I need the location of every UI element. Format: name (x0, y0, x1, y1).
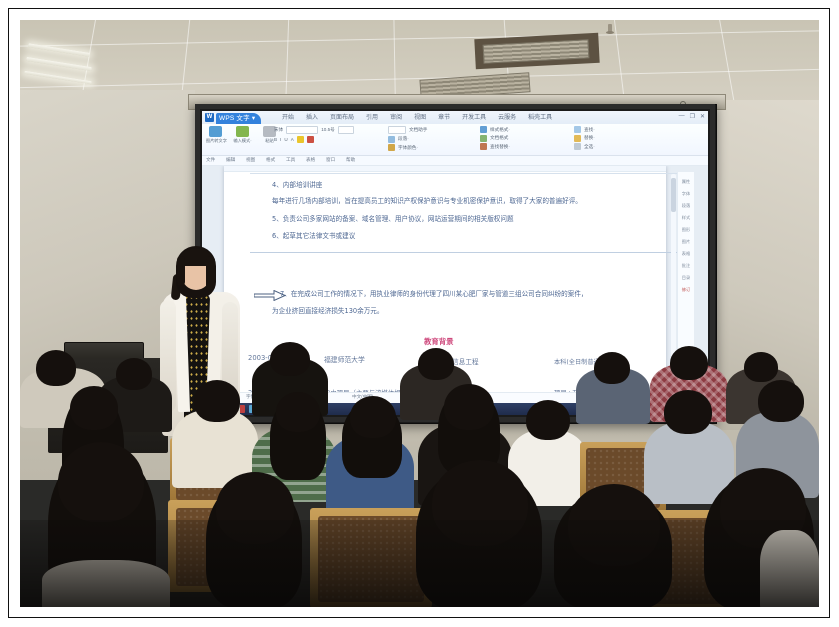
tab-reference[interactable]: 引用 (366, 113, 378, 124)
qat-table[interactable]: 表格 (306, 157, 315, 163)
document-heading-education: 教育背景 (424, 336, 454, 347)
photo-frame: Kanabox W WPS 文字 ▾ 开始 插入 页面布局 引用 审阅 视图 章… (0, 0, 839, 627)
ribbon-button-input-mode[interactable]: 输入模式· (232, 126, 253, 144)
qat-tools[interactable]: 工具 (286, 157, 295, 163)
wps-ribbon: 图片转文字 输入模式· 粘贴 宋体 (202, 124, 708, 156)
bold-button[interactable]: B (274, 137, 277, 142)
find-label: 查找· (584, 127, 595, 133)
document-ruler (224, 166, 666, 172)
audience-head (116, 358, 152, 390)
qat-format[interactable]: 格式 (266, 157, 275, 163)
replace-icon[interactable] (574, 135, 581, 142)
tab-section[interactable]: 章节 (438, 113, 450, 124)
pane-item-properties[interactable]: 属性 (678, 179, 694, 184)
audience-head (350, 396, 396, 438)
font-color-icon[interactable] (388, 144, 395, 151)
audience-head (594, 352, 630, 384)
audience-head (36, 350, 76, 386)
italic-button[interactable]: I (280, 137, 281, 142)
ribbon-button-image-to-text[interactable]: 图片转文字 (205, 126, 226, 144)
pane-item-outline[interactable]: 目录 (678, 275, 694, 280)
style-format-icon[interactable] (480, 126, 487, 133)
select-all-icon[interactable] (574, 143, 581, 150)
tab-dev-tools[interactable]: 开发工具 (462, 113, 486, 124)
font-color-swatch[interactable] (307, 136, 314, 143)
tab-view[interactable]: 视图 (414, 113, 426, 124)
style-format-label: 样式格式· (490, 127, 510, 133)
foreground-shadow (20, 520, 819, 607)
underline-button[interactable]: U (284, 137, 287, 142)
document-line: 5、负责公司多家网站的备案、域名管理、用户协议，网站运营期间的相关版权问题 (272, 213, 514, 223)
audience-head (744, 352, 778, 382)
ribbon-styles-group: 样式格式· 文档格式 查找替换· (480, 126, 510, 150)
select-all-label: 全选· (584, 144, 595, 150)
tab-page-layout[interactable]: 页面布局 (330, 113, 354, 124)
document-line: 7、在完成公司工作的情况下，用执业律师的身份代理了四川某心肥厂家与管道三组公司合… (280, 288, 588, 298)
tab-cloud-service[interactable]: 云服务 (498, 113, 516, 124)
close-icon[interactable]: ✕ (700, 113, 705, 120)
ribbon-font-group: 宋体 10.5号 B I U A (274, 126, 354, 143)
presenter-hair-side-left (177, 256, 185, 286)
paragraph-icon[interactable] (388, 136, 395, 143)
doc-assistant-box[interactable] (388, 126, 406, 134)
font-name-box[interactable] (286, 126, 318, 134)
window-controls[interactable]: — ❐ ✕ (679, 113, 705, 120)
maximize-icon[interactable]: ❐ (690, 113, 695, 120)
qat-view[interactable]: 视图 (246, 157, 255, 163)
wps-title-bar: W WPS 文字 ▾ 开始 插入 页面布局 引用 审阅 视图 章节 开发工具 云… (202, 111, 708, 124)
photograph: Kanabox W WPS 文字 ▾ 开始 插入 页面布局 引用 审阅 视图 章… (20, 20, 819, 607)
replace-label: 替换· (584, 135, 595, 141)
paragraph-label: 段落· (398, 136, 409, 142)
tab-review[interactable]: 审阅 (390, 113, 402, 124)
audience-head (664, 390, 712, 434)
font-size-value[interactable]: 10.5号 (321, 127, 335, 133)
doc-format-icon[interactable] (480, 135, 487, 142)
pane-item-revisions[interactable]: 修订 (678, 287, 694, 292)
ribbon-paragraph-group: 文档助手 段落· 字体颜色· (388, 126, 427, 151)
tab-start[interactable]: 开始 (282, 113, 294, 124)
wps-quick-access-toolbar: 文件 编辑 视图 格式 工具 表格 窗口 帮助 (202, 156, 708, 166)
audience-head (70, 386, 118, 430)
font-color-label: 字体颜色· (398, 145, 418, 151)
doc-assistant-label: 文档助手 (409, 127, 427, 133)
font-size-box[interactable] (338, 126, 354, 134)
audience-head (526, 400, 570, 440)
doc-format-label: 文档格式 (490, 135, 508, 141)
highlight-color-swatch[interactable] (297, 136, 304, 143)
pane-item-tables[interactable]: 表格 (678, 251, 694, 256)
tab-extra-tools[interactable]: 稻壳工具 (528, 113, 552, 124)
pane-item-font[interactable]: 字体 (678, 191, 694, 196)
audience-head (270, 342, 310, 376)
tab-insert[interactable]: 插入 (306, 113, 318, 124)
wps-menu-tabs[interactable]: 开始 插入 页面布局 引用 审阅 视图 章节 开发工具 云服务 稻壳工具 (282, 113, 552, 124)
wps-logo-icon: W (205, 113, 214, 122)
font-color-button[interactable]: A (291, 137, 294, 142)
pane-item-shapes[interactable]: 图形 (678, 227, 694, 232)
page-top-rule (250, 173, 680, 174)
qat-window[interactable]: 窗口 (326, 157, 335, 163)
pane-item-comments[interactable]: 批注 (678, 263, 694, 268)
presenter-hair-side-right (206, 256, 215, 290)
fluorescent-light-panel (24, 71, 92, 85)
qat-help[interactable]: 帮助 (346, 157, 355, 163)
wps-app-name: WPS 文字 ▾ (216, 113, 261, 124)
pane-item-styles[interactable]: 样式 (678, 215, 694, 220)
document-line: 为企业挤回直接经济损失130余万元。 (272, 305, 384, 315)
fluorescent-light-panel (26, 57, 92, 71)
document-line: 6、起草其它法律文书或建议 (272, 230, 355, 240)
audience (20, 350, 819, 607)
find-replace-label: 查找替换· (490, 144, 510, 150)
find-icon[interactable] (574, 126, 581, 133)
audience-head (758, 380, 804, 422)
audience-head (276, 392, 320, 432)
image-to-text-icon (209, 126, 222, 137)
audience-head (58, 442, 144, 522)
input-mode-icon (236, 126, 249, 137)
ceiling-tile-seam (20, 30, 819, 47)
font-name-value[interactable]: 宋体 (274, 127, 283, 133)
qat-edit[interactable]: 编辑 (226, 157, 235, 163)
find-replace-icon[interactable] (480, 143, 487, 150)
section-divider (250, 252, 680, 253)
document-line: 每年进行几场内部培训，旨在提高员工的知识产权保护意识与专业机密保护意识，取得了大… (272, 195, 582, 205)
ribbon-editing-group: 查找· 替换· 全选· (574, 126, 595, 150)
audience-head (418, 348, 454, 380)
pane-item-pictures[interactable]: 图片 (678, 239, 694, 244)
minimize-icon[interactable]: — (679, 113, 685, 120)
pane-item-paragraph[interactable]: 段落 (678, 203, 694, 208)
audience-head (670, 346, 708, 380)
ribbon-clipboard-group: 图片转文字 输入模式· 粘贴 (205, 126, 280, 144)
qat-file[interactable]: 文件 (206, 157, 215, 163)
audience-head (444, 384, 494, 430)
document-line: 4、内部培训讲座 (272, 179, 322, 189)
fire-sprinkler-head (608, 24, 612, 33)
audience-head (194, 380, 240, 422)
